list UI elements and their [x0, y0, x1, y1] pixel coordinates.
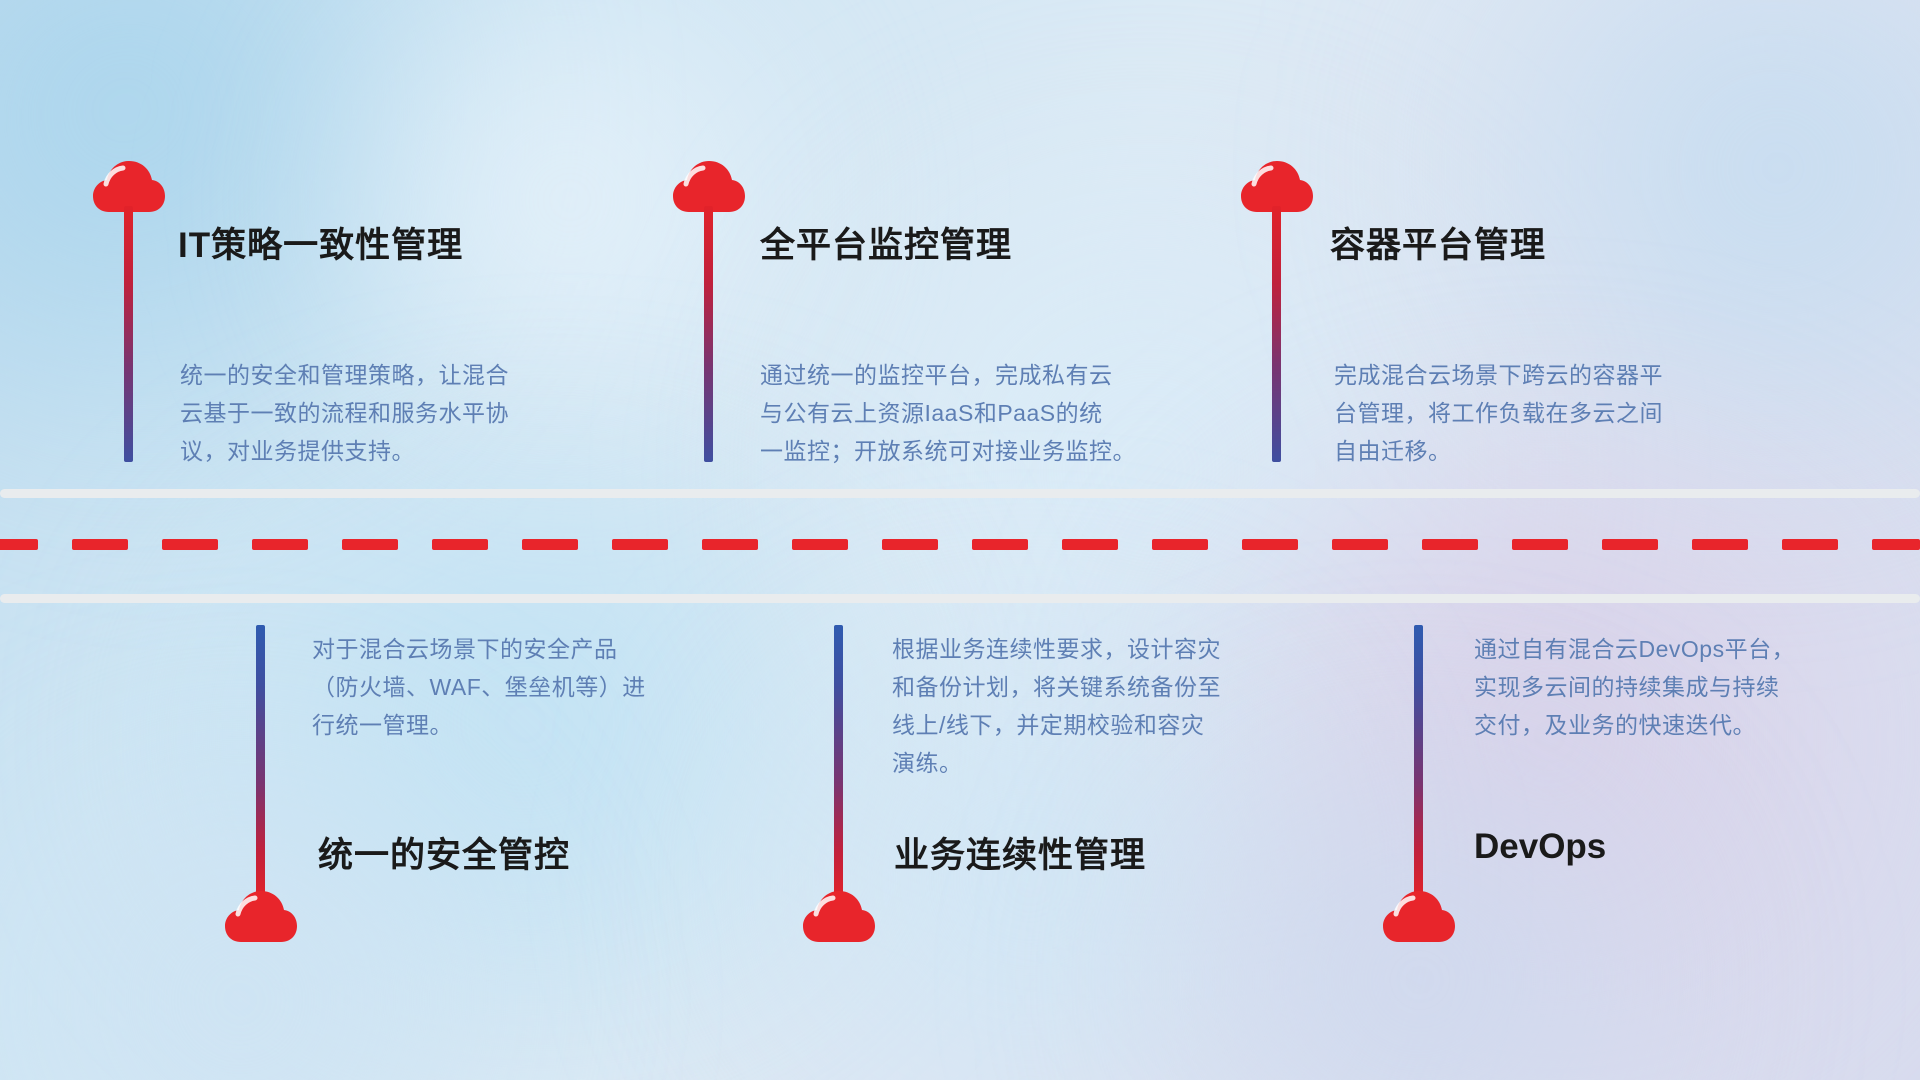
feature-title: DevOps [1474, 827, 1606, 867]
divider-dash [1602, 539, 1658, 550]
divider-dash [702, 539, 758, 550]
divider-dashed-red [0, 539, 1920, 550]
feature-title: 业务连续性管理 [894, 827, 1146, 878]
feature-title: IT策略一致性管理 [178, 217, 463, 268]
pin-stem [834, 625, 843, 899]
divider-dash [342, 539, 398, 550]
pin-stem [256, 625, 265, 899]
divider-dash [522, 539, 578, 550]
divider-dash [1692, 539, 1748, 550]
divider-dash [972, 539, 1028, 550]
pin-stem [1414, 625, 1423, 899]
divider-dash [72, 539, 128, 550]
feature-description: 对于混合云场景下的安全产品 （防火墙、WAF、堡垒机等）进 行统一管理。 [312, 630, 646, 744]
feature-title: 容器平台管理 [1330, 217, 1546, 268]
divider-dash [1422, 539, 1478, 550]
divider-dash [792, 539, 848, 550]
feature-title: 全平台监控管理 [760, 217, 1012, 268]
divider-dash [1512, 539, 1568, 550]
pin-stem [1272, 206, 1281, 462]
divider-dash [432, 539, 488, 550]
pin-stem [124, 206, 133, 462]
divider-dash [0, 539, 38, 550]
feature-description: 统一的安全和管理策略，让混合 云基于一致的流程和服务水平协 议，对业务提供支持。 [180, 356, 509, 470]
divider-dash [1782, 539, 1838, 550]
divider-dash [252, 539, 308, 550]
feature-description: 根据业务连续性要求，设计容灾 和备份计划，将关键系统备份至 线上/线下，并定期校… [892, 630, 1221, 782]
divider-dash [1332, 539, 1388, 550]
cloud-icon [802, 890, 876, 944]
divider-dash [1152, 539, 1208, 550]
feature-description: 通过统一的监控平台，完成私有云 与公有云上资源IaaS和PaaS的统 一监控；开… [760, 356, 1136, 470]
pin-stem [704, 206, 713, 462]
infographic-canvas: IT策略一致性管理 统一的安全和管理策略，让混合 云基于一致的流程和服务水平协 … [0, 0, 1920, 1080]
feature-title: 统一的安全管控 [318, 827, 570, 878]
divider-dash [612, 539, 668, 550]
divider-line-lower [0, 594, 1920, 603]
divider-dash [882, 539, 938, 550]
cloud-icon [224, 890, 298, 944]
cloud-icon [1382, 890, 1456, 944]
feature-description: 完成混合云场景下跨云的容器平 台管理，将工作负载在多云之间 自由迁移。 [1334, 356, 1663, 470]
divider-dash [162, 539, 218, 550]
divider-dash [1062, 539, 1118, 550]
divider-line-upper [0, 489, 1920, 498]
divider-dash [1872, 539, 1920, 550]
divider-dash [1242, 539, 1298, 550]
feature-description: 通过自有混合云DevOps平台， 实现多云间的持续集成与持续 交付，及业务的快速… [1474, 630, 1795, 744]
